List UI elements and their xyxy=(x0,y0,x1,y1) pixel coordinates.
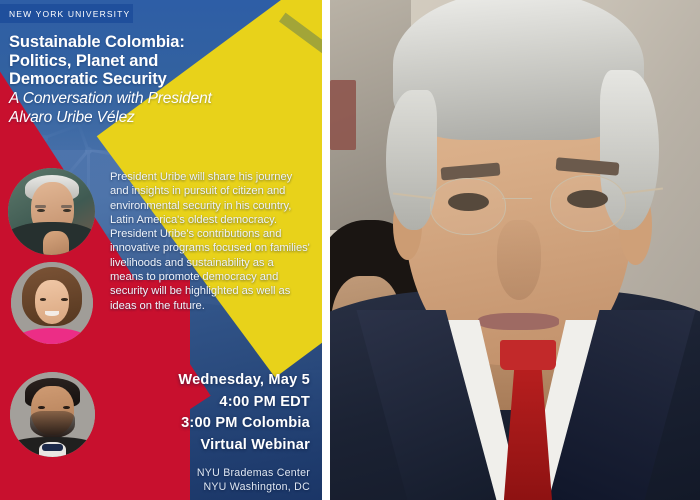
event-format: Virtual Webinar xyxy=(60,435,310,457)
speaker-portrait-woman xyxy=(11,262,93,344)
title-line-2: Politics, Planet and xyxy=(9,52,309,71)
subtitle-line-1: A Conversation with President xyxy=(9,90,309,108)
organizer-line-2: NYU Washington, DC xyxy=(60,481,310,494)
event-date: Wednesday, May 5 xyxy=(60,370,310,392)
event-poster-panel: NEW YORK UNIVERSITY Sustainable Colombia… xyxy=(0,0,322,500)
event-organizer: NYU Brademas Center NYU Washington, DC xyxy=(60,467,310,494)
title-line-1: Sustainable Colombia: xyxy=(9,33,309,52)
nyu-brand-label: NEW YORK UNIVERSITY xyxy=(0,9,130,19)
eyeglasses-icon xyxy=(550,175,626,232)
speaker-portrait-uribe xyxy=(8,168,95,255)
subtitle-line-2: Alvaro Uribe Vélez xyxy=(9,109,309,127)
page-title: Sustainable Colombia: Politics, Planet a… xyxy=(9,33,309,127)
eyeglasses-icon xyxy=(430,178,506,235)
poster-screenshot: NEW YORK UNIVERSITY Sustainable Colombia… xyxy=(0,0,700,500)
event-time-edt: 4:00 PM EDT xyxy=(60,392,310,414)
event-description: President Uribe will share his journey a… xyxy=(110,170,310,313)
nyu-brand-badge: NEW YORK UNIVERSITY xyxy=(0,4,133,23)
title-line-3: Democratic Security xyxy=(9,70,309,89)
photo-subject-uribe xyxy=(330,0,700,500)
organizer-line-1: NYU Brademas Center xyxy=(60,467,310,480)
speaker-photograph-panel xyxy=(330,0,700,500)
event-time-colombia: 3:00 PM Colombia xyxy=(60,413,310,435)
event-details: Wednesday, May 5 4:00 PM EDT 3:00 PM Col… xyxy=(60,370,310,456)
